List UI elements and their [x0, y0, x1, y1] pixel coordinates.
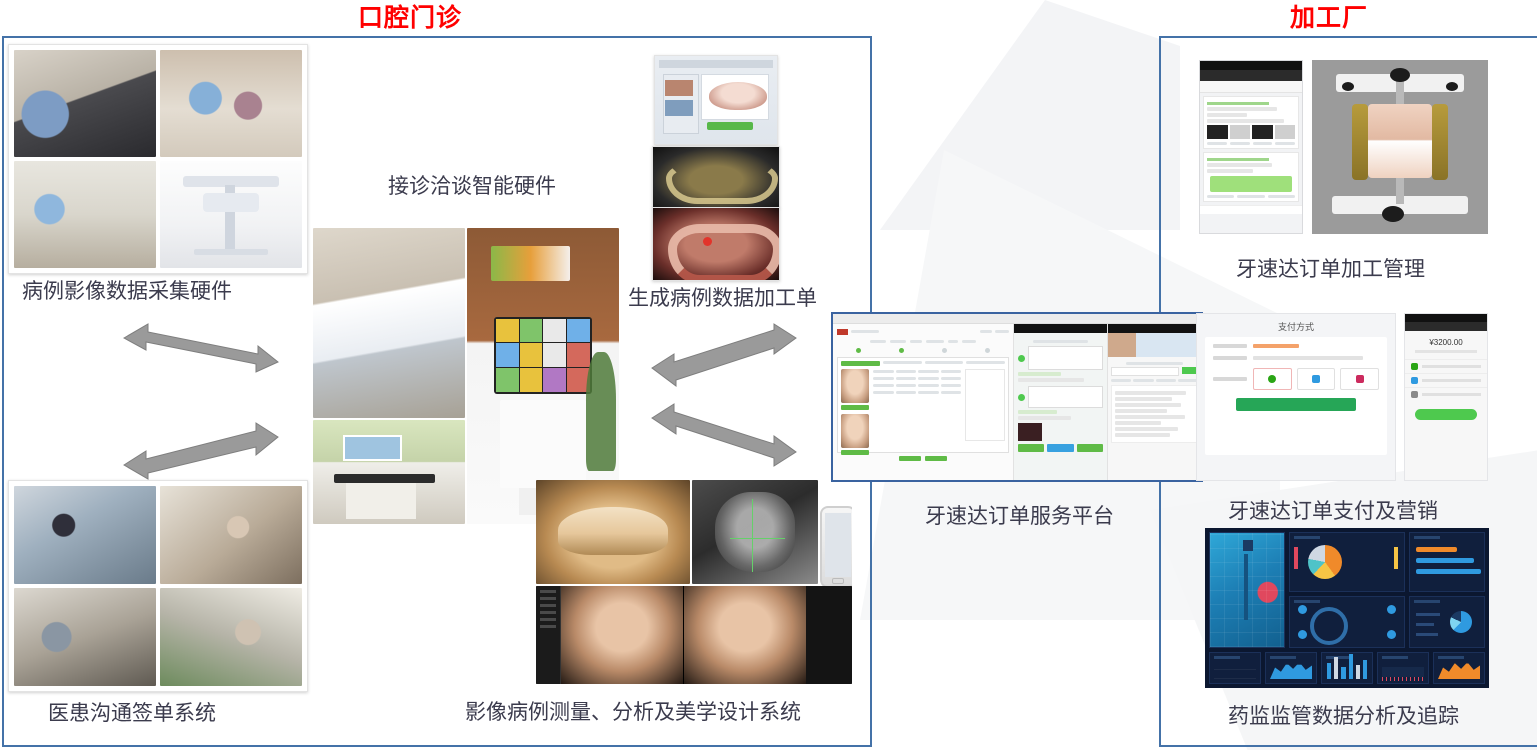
- mobile-alipay-option[interactable]: [1405, 373, 1487, 387]
- platform-main-pane: [833, 324, 1013, 481]
- photo-treatment-room: [14, 161, 156, 268]
- photo-elderly-consult: [160, 486, 302, 584]
- photo-cephalometric-xray: [692, 480, 818, 584]
- photo-mobile-preview: [820, 506, 852, 588]
- photo-consult-meeting: [313, 420, 465, 524]
- kiosk-screen: [494, 317, 591, 394]
- caption-regulatory-analysis: 药监监管数据分析及追踪: [1228, 700, 1459, 730]
- photo-smile-design-faces: [536, 586, 852, 684]
- photo-cbct-machine: [160, 161, 302, 268]
- payment-method-screenshot[interactable]: 支付方式: [1196, 313, 1396, 481]
- platform-mobile-order-pane: [1013, 324, 1107, 481]
- payment-form-card: [1205, 337, 1387, 455]
- caption-reception-hardware: 接诊洽谈智能硬件: [388, 170, 556, 200]
- double-arrow-icon-left-top: [118, 318, 283, 378]
- dashboard-trend-card: [1433, 652, 1485, 684]
- background-polygon-a: [880, 0, 1180, 230]
- pie-chart: [1308, 545, 1342, 579]
- photo-dentist-consult: [160, 50, 302, 157]
- radial-gauge: [1310, 607, 1348, 645]
- bankcard-option[interactable]: [1340, 368, 1379, 390]
- mobile-payment-screenshot[interactable]: ¥3200.00: [1404, 313, 1488, 481]
- photo-dentist-patient-chair: [14, 588, 156, 686]
- mobile-pay-button[interactable]: [1415, 409, 1477, 420]
- mobile-other-option[interactable]: [1405, 387, 1487, 401]
- dashboard-map: [1209, 532, 1285, 648]
- order-chat-mobile-screenshot[interactable]: [1199, 60, 1303, 234]
- photo-touch-table-doctor: [313, 228, 465, 418]
- donut-chart: [1450, 611, 1472, 633]
- photo-office-consult: [160, 588, 302, 686]
- face-profile-thumbnail: [841, 414, 869, 448]
- caption-payment-marketing: 牙速达订单支付及营销: [1228, 495, 1438, 525]
- dashboard-area-card: [1265, 652, 1317, 684]
- payment-note-row: [1213, 356, 1379, 360]
- photo-panoramic-xray: [652, 146, 780, 208]
- payment-methods-row[interactable]: [1213, 368, 1379, 390]
- face-frontal-thumbnail: [841, 369, 869, 403]
- caption-analysis-system: 影像病例测量、分析及美学设计系统: [465, 696, 801, 726]
- analysis-system-collage: [536, 480, 852, 684]
- double-arrow-icon-right-bottom: [648, 404, 798, 466]
- wechat-pay-option[interactable]: [1253, 368, 1292, 390]
- dental-articulator-photo: [1312, 60, 1488, 234]
- dashboard-line-card: [1209, 652, 1261, 684]
- caption-order-processing: 牙速达订单加工管理: [1236, 253, 1425, 283]
- double-arrow-icon-left-bottom: [118, 415, 283, 477]
- dashboard-hbar-card: [1409, 532, 1485, 592]
- mobile-payment-amount: ¥3200.00: [1405, 331, 1487, 350]
- regulatory-dashboard-screenshot[interactable]: [1205, 528, 1489, 688]
- photo-couple-touch-table: [14, 486, 156, 584]
- double-arrow-icon-right-top: [648, 324, 798, 382]
- platform-mobile-detail-pane: [1107, 324, 1201, 481]
- photo-dental-model: [536, 480, 690, 584]
- caption-generate-order: 生成病例数据加工单: [628, 282, 817, 312]
- alipay-option[interactable]: [1297, 368, 1336, 390]
- dashboard-bar-card: [1321, 652, 1373, 684]
- order-service-platform-screenshot[interactable]: [831, 312, 1203, 482]
- confirm-payment-button[interactable]: [1236, 398, 1356, 411]
- dashboard-radial-card: [1289, 596, 1405, 648]
- clinic-section-title: 口腔门诊: [358, 0, 462, 34]
- chat-order-card-1: [1203, 96, 1299, 149]
- communication-system-photo-grid: [8, 480, 308, 692]
- photo-intraoral-3d-scan: [652, 207, 780, 281]
- dashboard-donut-card: [1409, 596, 1485, 648]
- chat-bubble: [1210, 176, 1292, 192]
- caption-imaging-hardware: 病例影像数据采集硬件: [22, 275, 232, 305]
- payment-amount-row: [1213, 344, 1379, 348]
- imaging-hardware-photo-grid: [8, 44, 308, 274]
- payment-title: 支付方式: [1197, 314, 1395, 337]
- photo-dental-scan-software: [654, 55, 778, 145]
- caption-communication-system: 医患沟通签单系统: [48, 697, 216, 727]
- photo-intraoral-scan: [14, 50, 156, 157]
- chat-order-card-2: [1203, 152, 1299, 202]
- factory-section-title: 加工厂: [1290, 0, 1368, 34]
- mobile-wechat-option[interactable]: [1405, 359, 1487, 373]
- dashboard-pie-card: [1289, 532, 1405, 592]
- caption-platform: 牙速达订单服务平台: [925, 500, 1114, 530]
- platform-window-bar: [833, 314, 1201, 324]
- dashboard-signal-card: [1377, 652, 1429, 684]
